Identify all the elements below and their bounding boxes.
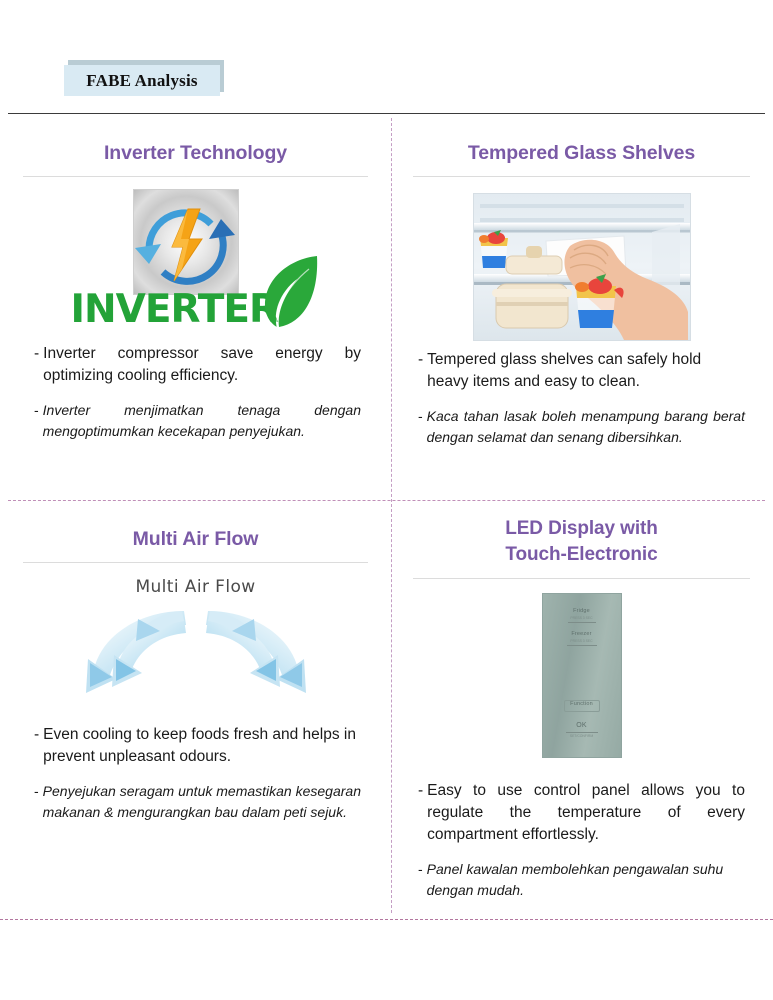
card-heading: Multi Air Flow [8,526,383,552]
card-heading-line1: LED Display with [398,516,765,542]
bullet-text-en: Easy to use control panel allows you to … [427,780,745,846]
inverter-logo: INVERTER [71,189,321,337]
led-underline-fridge [568,622,596,623]
bullet-item: - Easy to use control panel allows you t… [418,780,745,846]
bullet-marker: - [34,400,39,421]
card-inverter-technology: Inverter Technology INVERTER [8,118,383,498]
bullet-text-en: Inverter compressor save energy by optim… [43,343,361,387]
bullet-item: - Inverter menjimatkan tenaga dengan men… [34,400,361,442]
bullet-text-en: Even cooling to keep foods fresh and hel… [43,724,361,768]
card-heading: Tempered Glass Shelves [398,140,765,166]
card-heading-line2: Touch-Electronic [398,542,765,568]
card-tempered-glass-shelves: Tempered Glass Shelves [398,118,765,498]
card-media: Multi Air Flow [8,563,383,702]
bullet-text-en: Tempered glass shelves can safely hold h… [427,349,745,393]
led-underline-freezer [567,645,597,646]
led-sub-ok: SET/CONFIRM [543,734,621,738]
bullet-text-ms: Kaca tahan lasak boleh menampung barang … [427,406,745,448]
bullet-item: - Kaca tahan lasak boleh menampung baran… [418,406,745,448]
feature-grid: Inverter Technology INVERTER [0,118,773,918]
card-media [398,177,765,341]
vertical-divider [391,118,392,913]
page-title: FABE Analysis [86,71,197,91]
card-media: INVERTER [8,177,383,337]
airflow-caption: Multi Air Flow [76,577,316,597]
bullet-marker: - [34,781,39,802]
inverter-wordmark: INVERTER [71,289,281,331]
card-heading: LED Display with Touch-Electronic [398,516,765,568]
top-divider [8,113,765,114]
leaf-icon [259,253,321,331]
led-label-function: Function [543,701,621,707]
bullet-marker: - [418,780,423,802]
fridge-shelf-illustration [474,194,690,340]
led-label-fridge: Fridge [543,608,621,614]
fruit-cup-upper [479,230,508,268]
led-control-panel: Fridge PRESS 3 SEC Freezer PRESS 3 SEC F… [542,593,622,758]
bullet-item: - Inverter compressor save energy by opt… [34,343,361,387]
led-label-freezer: Freezer [543,631,621,637]
badge-body: FABE Analysis [64,65,220,96]
bullet-item: - Panel kawalan membolehkan pengawalan s… [418,859,745,901]
fridge-shelf-photo [473,193,691,341]
card-led-display: LED Display with Touch-Electronic Fridge… [398,504,765,914]
bullet-item: - Even cooling to keep foods fresh and h… [34,724,361,768]
bullet-text-ms: Panel kawalan membolehkan pengawalan suh… [427,859,745,901]
bullet-list: - Easy to use control panel allows you t… [398,780,765,901]
bullet-list: - Tempered glass shelves can safely hold… [398,349,765,448]
bullet-list: - Even cooling to keep foods fresh and h… [8,724,383,823]
bullet-item: - Tempered glass shelves can safely hold… [418,349,745,393]
card-heading: Inverter Technology [8,140,383,166]
airflow-graphic: Multi Air Flow [76,577,316,702]
horizontal-divider-bottom [0,919,773,920]
bullet-marker: - [34,724,39,746]
page-title-badge: FABE Analysis [64,60,224,96]
horizontal-divider-middle [8,500,765,501]
arrow-head-left [135,244,161,264]
led-label-ok: OK [543,722,621,729]
bullet-marker: - [34,343,39,365]
card-media: Fridge PRESS 3 SEC Freezer PRESS 3 SEC F… [398,579,765,758]
bullet-marker: - [418,406,423,427]
led-sub-fridge: PRESS 3 SEC [543,616,621,620]
bullet-marker: - [418,349,423,371]
led-underline-ok [566,732,598,733]
bullet-text-ms: Inverter menjimatkan tenaga dengan mengo… [43,400,361,442]
bullet-marker: - [418,859,423,880]
bullet-text-ms: Penyejukan seragam untuk memastikan kese… [43,781,361,823]
bullet-list: - Inverter compressor save energy by opt… [8,343,383,442]
bullet-item: - Penyejukan seragam untuk memastikan ke… [34,781,361,823]
card-multi-air-flow: Multi Air Flow Multi Air Flow [8,504,383,914]
airflow-arrows-icon [76,597,316,722]
led-sub-freezer: PRESS 3 SEC [543,639,621,643]
